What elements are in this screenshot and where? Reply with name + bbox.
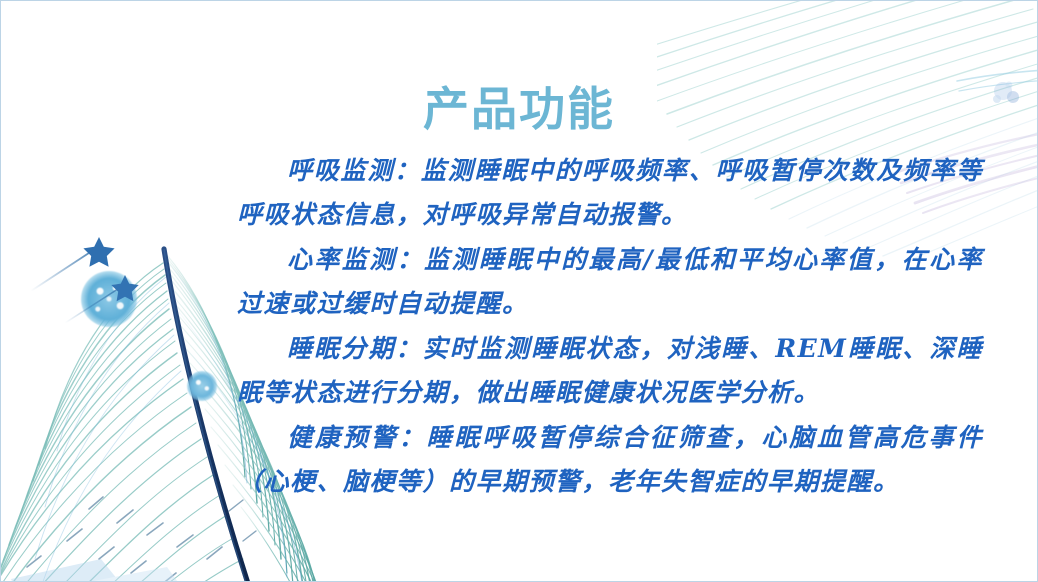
shooting-star-icon (29, 237, 139, 293)
shooting-star-icon (63, 273, 163, 325)
feature-paragraph-heart-rate: 心率监测：监测睡眠中的最高/最低和平均心率值，在心率过速或过缓时自动提醒。 (237, 238, 983, 326)
feature-list: 呼吸监测：监测睡眠中的呼吸频率、呼吸暂停次数及频率等呼吸状态信息，对呼吸异常自动… (237, 149, 983, 504)
dandelion-seed-icon (187, 371, 217, 401)
dandelion-seed-icon (81, 271, 137, 327)
feature-paragraph-respiration: 呼吸监测：监测睡眠中的呼吸频率、呼吸暂停次数及频率等呼吸状态信息，对呼吸异常自动… (237, 149, 983, 237)
feature-paragraph-health-alert: 健康预警：睡眠呼吸暂停综合征筛查，心脑血管高危事件（心梗、脑梗等）的早期预警，老… (237, 416, 983, 504)
slide-canvas: 产品功能 呼吸监测：监测睡眠中的呼吸频率、呼吸暂停次数及频率等呼吸状态信息，对呼… (0, 0, 1038, 582)
feature-paragraph-sleep-staging: 睡眠分期：实时监测睡眠状态，对浅睡、REM睡眠、深睡眠等状态进行分期，做出睡眠健… (237, 327, 983, 415)
page-title: 产品功能 (1, 84, 1037, 135)
